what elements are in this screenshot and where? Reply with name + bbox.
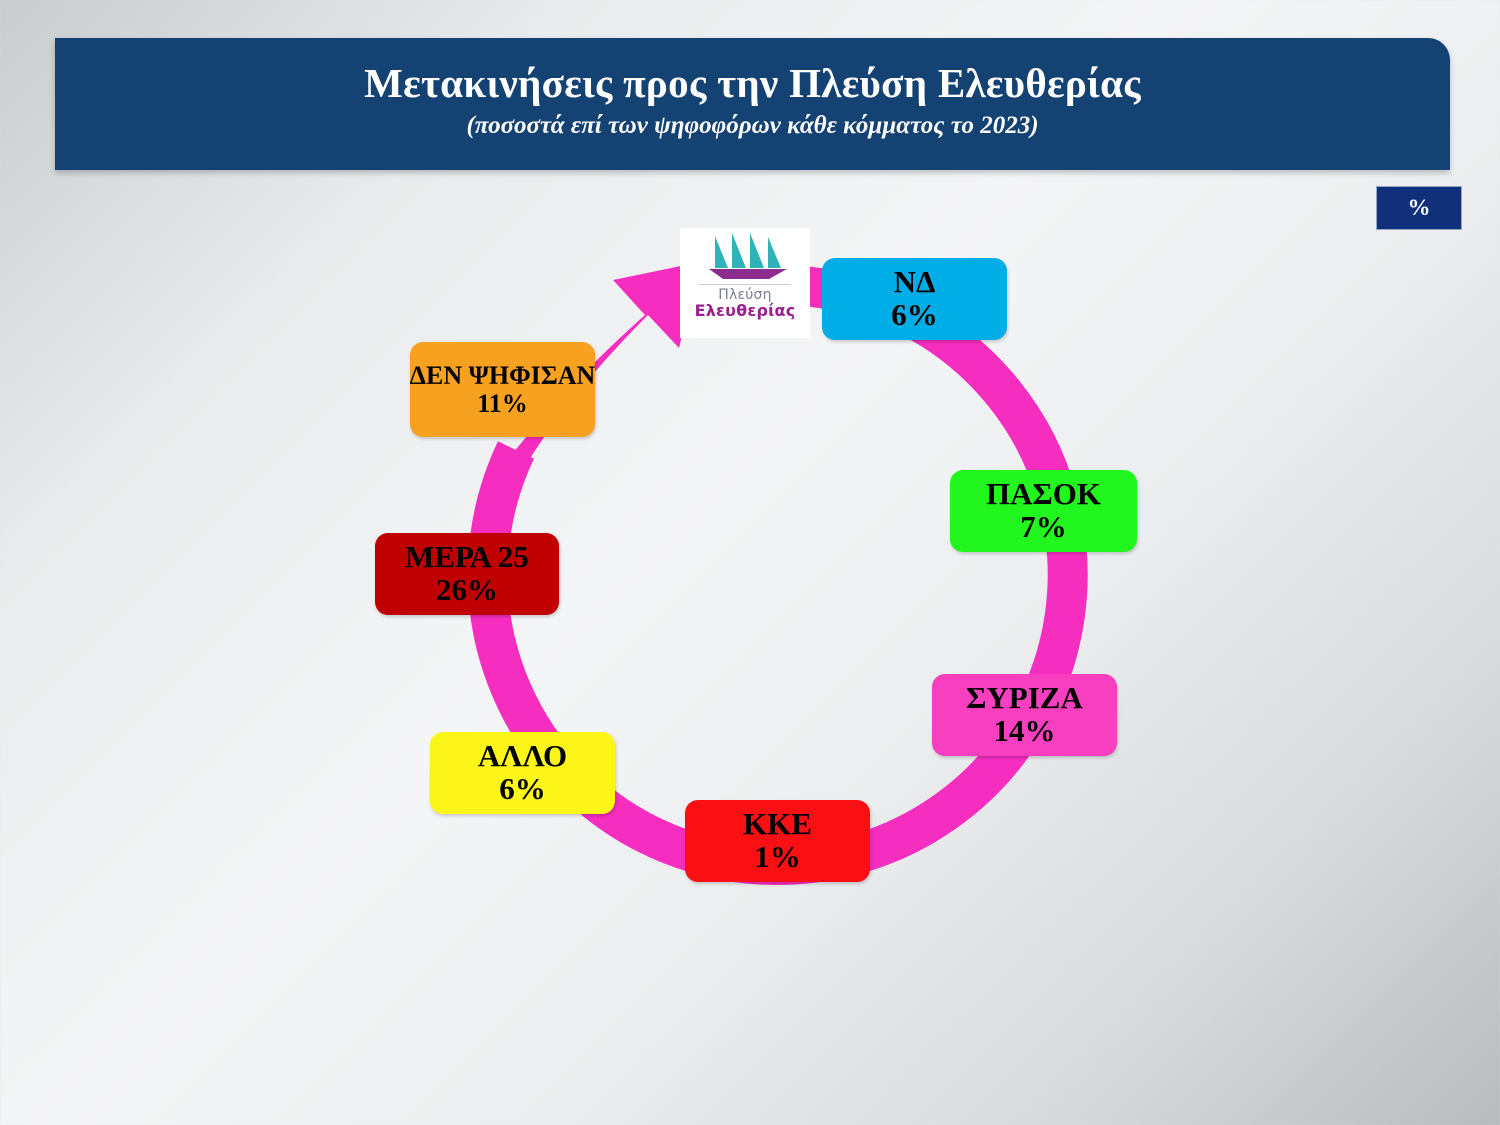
node-mera25[interactable]: ΜΕΡΑ 25 26% [375, 533, 559, 615]
node-value: 7% [1020, 511, 1067, 544]
node-syriza[interactable]: ΣΥΡΙΖΑ 14% [932, 674, 1117, 756]
node-label: ΚΚΕ [743, 808, 812, 841]
node-label: ΑΛΛΟ [478, 740, 567, 773]
node-pasok[interactable]: ΠΑΣΟΚ 7% [950, 470, 1137, 552]
node-label: ΝΔ [894, 266, 936, 299]
node-value: 1% [754, 841, 801, 874]
sailboat-icon [697, 228, 793, 280]
logo-line-1: Πλεύση [718, 288, 771, 302]
node-value: 26% [436, 574, 498, 607]
logo-divider [699, 284, 791, 285]
node-label: ΠΑΣΟΚ [986, 478, 1101, 511]
circular-flow-diagram: Πλεύση Ελευθερίας ΝΔ 6% ΠΑΣΟΚ 7% ΣΥΡΙΖΑ … [0, 180, 1500, 980]
slide-canvas: Μετακινήσεις προς την Πλεύση Ελευθερίας … [0, 0, 1500, 1125]
node-den-psifisan[interactable]: ΔΕΝ ΨΗΦΙΣΑΝ 11% [410, 342, 595, 437]
node-value: 6% [499, 773, 546, 806]
node-value: 14% [994, 715, 1056, 748]
page-subtitle: (ποσοστά επί των ψηφοφόρων κάθε κόμματος… [466, 112, 1038, 140]
pleusi-eleftherias-logo: Πλεύση Ελευθερίας [680, 228, 810, 338]
node-allo[interactable]: ΑΛΛΟ 6% [430, 732, 615, 814]
node-value: 11% [477, 390, 528, 418]
logo-line-2: Ελευθερίας [695, 302, 796, 320]
page-title: Μετακινήσεις προς την Πλεύση Ελευθερίας [364, 62, 1141, 105]
slide-footer: NEWS alco The pulse of society [0, 1000, 1500, 1125]
header-banner: Μετακινήσεις προς την Πλεύση Ελευθερίας … [55, 38, 1450, 170]
node-kke[interactable]: ΚΚΕ 1% [685, 800, 870, 882]
node-label: ΜΕΡΑ 25 [405, 541, 529, 574]
node-value: 6% [891, 299, 938, 332]
node-label: ΔΕΝ ΨΗΦΙΣΑΝ [410, 362, 596, 390]
node-nd[interactable]: ΝΔ 6% [822, 258, 1007, 340]
node-label: ΣΥΡΙΖΑ [966, 682, 1083, 715]
